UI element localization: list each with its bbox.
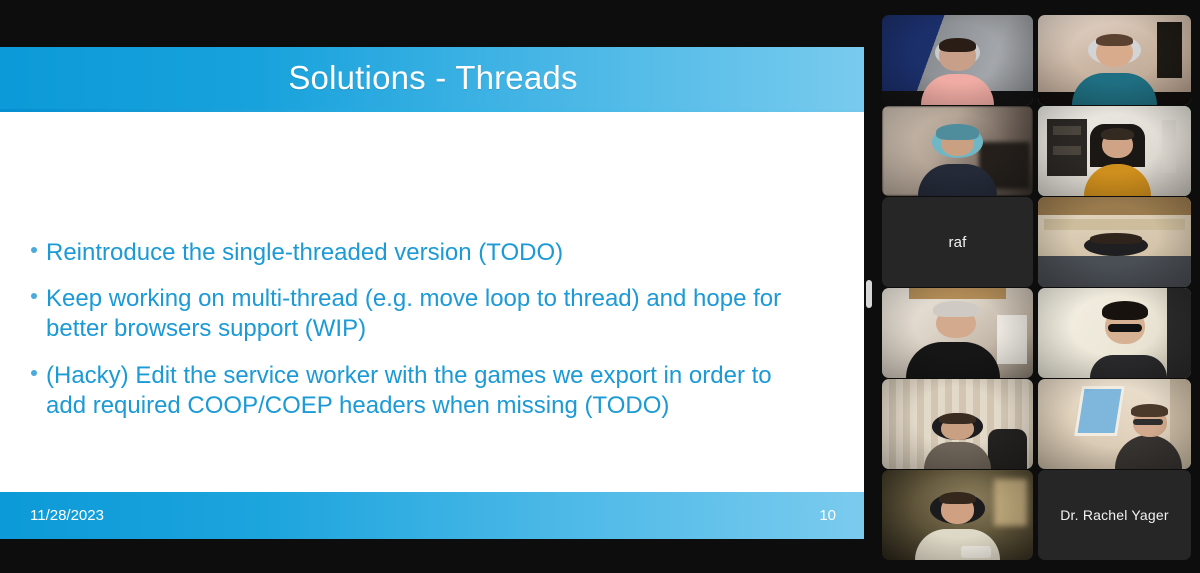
participant-tile[interactable] — [882, 470, 1033, 560]
bullet-text: Reintroduce the single-threaded version … — [46, 238, 844, 268]
participant-tile[interactable] — [882, 106, 1033, 196]
panel-splitter[interactable] — [864, 0, 876, 573]
participant-tile[interactable] — [882, 288, 1033, 378]
tile-vignette — [882, 288, 1033, 378]
meeting-screen-share-view: Solutions - Threads Reintroduce the sing… — [0, 0, 1200, 573]
slide-page-number: 10 — [819, 507, 836, 524]
bullet-icon — [22, 361, 46, 376]
participant-tile[interactable] — [1038, 379, 1191, 469]
tile-vignette — [882, 15, 1033, 105]
bullet-text: Keep working on multi-thread (e.g. move … — [46, 284, 844, 344]
slide-body: Reintroduce the single-threaded version … — [0, 112, 866, 492]
bullet-icon — [22, 284, 46, 299]
participant-tile[interactable] — [1038, 197, 1191, 287]
slide-footer: 11/28/2023 10 — [0, 492, 866, 539]
tile-vignette — [882, 379, 1033, 469]
participant-tile[interactable] — [882, 379, 1033, 469]
participant-video-rail: raf — [876, 0, 1200, 573]
slide-date: 11/28/2023 — [30, 507, 104, 524]
tile-vignette — [882, 470, 1033, 560]
tile-vignette — [1038, 288, 1191, 378]
list-item: Keep working on multi-thread (e.g. move … — [22, 284, 844, 344]
bullet-text: (Hacky) Edit the service worker with the… — [46, 361, 844, 421]
page-title: Solutions - Threads — [0, 47, 866, 109]
participant-tile-active-speaker[interactable] — [1038, 106, 1191, 196]
tile-vignette — [882, 106, 1033, 196]
presentation-slide[interactable]: Solutions - Threads Reintroduce the sing… — [0, 47, 866, 539]
tile-vignette — [1038, 15, 1191, 105]
participant-name: raf — [882, 197, 1033, 287]
tile-vignette — [1038, 197, 1191, 287]
tile-vignette — [1038, 106, 1191, 196]
participant-tile[interactable] — [1038, 15, 1191, 105]
participant-tile-name-only[interactable]: Dr. Rachel Yager — [1038, 470, 1191, 560]
list-item: Reintroduce the single-threaded version … — [22, 238, 844, 268]
participant-tile[interactable] — [1038, 288, 1191, 378]
participant-tile-name-only[interactable]: raf — [882, 197, 1033, 287]
bullet-icon — [22, 238, 46, 253]
participant-name: Dr. Rachel Yager — [1038, 470, 1191, 560]
participant-tile[interactable] — [882, 15, 1033, 105]
drag-handle-icon[interactable] — [866, 280, 872, 308]
tile-vignette — [1038, 379, 1191, 469]
list-item: (Hacky) Edit the service worker with the… — [22, 361, 844, 421]
shared-screen-region[interactable]: Solutions - Threads Reintroduce the sing… — [0, 0, 866, 573]
participant-grid: raf — [882, 15, 1191, 560]
